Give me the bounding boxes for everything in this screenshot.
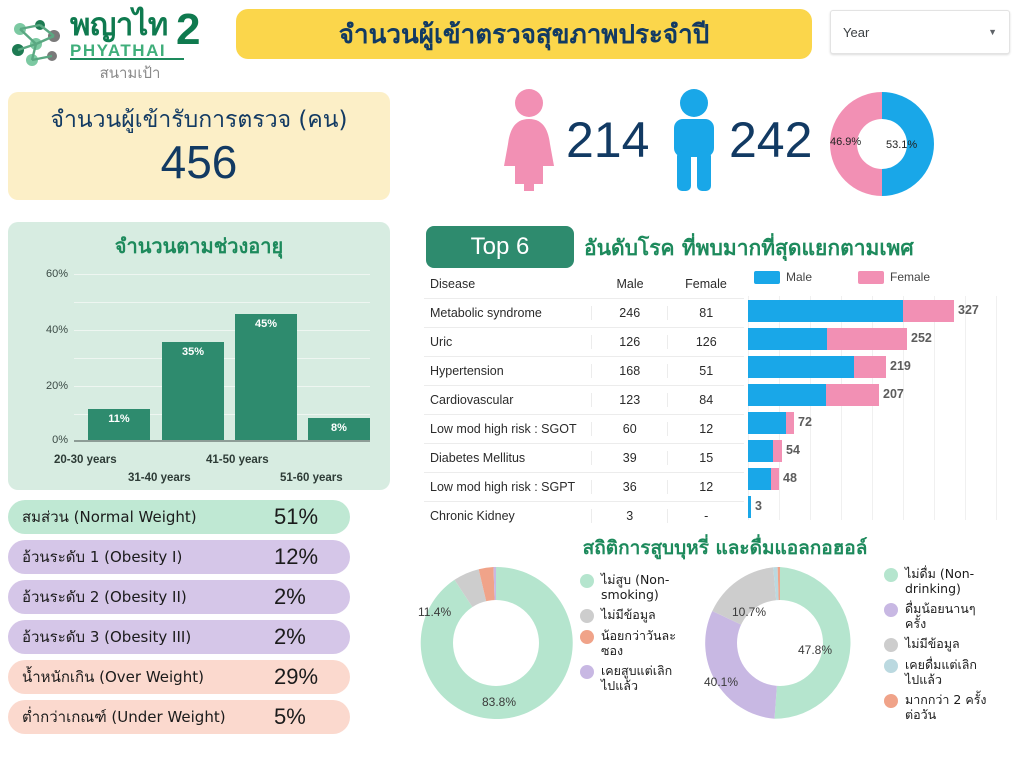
alcohol-legend-item-0[interactable]: ไม่ดื่ม (Non-drinking): [884, 566, 988, 596]
male-value-1: 126: [591, 335, 668, 349]
alcohol-donut-svg: [700, 563, 860, 723]
bmi-value-1: 12%: [274, 544, 336, 570]
bmi-row-obesity-1[interactable]: อ้วนระดับ 1 (Obesity I) 12%: [8, 540, 350, 574]
top6-badge-label: Top 6: [471, 233, 530, 261]
page-title: จำนวนผู้เข้าตรวจสุขภาพประจำปี: [339, 14, 709, 55]
age-xtick-0: 20-30 years: [54, 454, 117, 466]
smoking-legend-label-3: เคยสูบแต่เลิกไปแล้ว: [601, 663, 676, 693]
male-count: 242: [729, 115, 812, 165]
bmi-label-3: อ้วนระดับ 3 (Obesity III): [22, 625, 274, 649]
gender-summary: 214 242: [470, 88, 830, 200]
age-bar-0[interactable]: 11%: [88, 409, 150, 440]
male-value-0: 246: [591, 306, 668, 320]
top6-badge: Top 6: [426, 226, 574, 268]
legend-label-male: Male: [786, 270, 812, 284]
hbar-female-6: [771, 468, 779, 490]
alcohol-legend-item-2[interactable]: ไม่มีข้อมูล: [884, 636, 988, 652]
disease-name-6: Low mod high risk : SGPT: [424, 480, 591, 494]
female-value-3: 84: [667, 393, 744, 407]
hbar-male-2: [748, 356, 854, 378]
male-icon: [665, 88, 723, 192]
smoking-label-nonsmoking: 83.8%: [482, 695, 516, 709]
age-bar-label-1: 35%: [162, 346, 224, 358]
bmi-value-5: 5%: [274, 704, 336, 730]
table-row[interactable]: Cardiovascular 123 84: [424, 385, 744, 414]
hbar-male-5: [748, 440, 773, 462]
alcohol-label-nondrinking: 47.8%: [798, 643, 832, 657]
alcohol-label-nodata: 10.7%: [732, 605, 766, 619]
female-value-4: 12: [667, 422, 744, 436]
age-xtick-3: 51-60 years: [280, 472, 343, 484]
age-ytick-0: 0%: [52, 434, 68, 446]
legend-swatch-female: [858, 271, 884, 284]
logo-molecule-icon: [10, 20, 66, 66]
bmi-label-2: อ้วนระดับ 2 (Obesity II): [22, 585, 274, 609]
gender-ratio-donut: 46.9% 53.1%: [826, 88, 942, 200]
total-patients-card: จำนวนผู้เข้ารับการตรวจ (คน) 456: [8, 92, 390, 200]
female-count: 214: [566, 115, 649, 165]
bmi-row-over-weight[interactable]: น้ำหนักเกิน (Over Weight) 29%: [8, 660, 350, 694]
female-value-2: 51: [667, 364, 744, 378]
bmi-value-4: 29%: [274, 664, 336, 690]
dashboard-root: พญาไท PHYATHAI 2 สนามเป้า จำนวนผู้เข้าตร…: [0, 0, 1024, 763]
age-bar-1[interactable]: 35%: [162, 342, 224, 440]
alcohol-legend-label-0: ไม่ดื่ม (Non-drinking): [905, 566, 988, 596]
alcohol-legend-item-3[interactable]: เคยดื่มแต่เลิกไปแล้ว: [884, 657, 988, 687]
bmi-label-4: น้ำหนักเกิน (Over Weight): [22, 665, 274, 689]
hbar-total-7: 3: [755, 499, 762, 513]
bmi-row-obesity-2[interactable]: อ้วนระดับ 2 (Obesity II) 2%: [8, 580, 350, 614]
female-value-6: 12: [667, 480, 744, 494]
hbar-total-4: 72: [798, 415, 812, 429]
table-row[interactable]: Chronic Kidney 3 -: [424, 501, 744, 530]
legend-item-male[interactable]: Male: [754, 270, 812, 284]
female-value-5: 15: [667, 451, 744, 465]
legend-dot-non-smoking: [580, 574, 594, 588]
legend-item-female[interactable]: Female: [858, 270, 930, 284]
age-xtick-1: 31-40 years: [128, 472, 191, 484]
year-filter-label: Year: [843, 25, 988, 40]
age-chart-title: จำนวนตามช่วงอายุ: [8, 230, 390, 262]
male-value-2: 168: [591, 364, 668, 378]
hbar-male-4: [748, 412, 786, 434]
female-count-group: 214: [498, 88, 649, 192]
hbar-male-3: [748, 384, 826, 406]
bmi-row-obesity-3[interactable]: อ้วนระดับ 3 (Obesity III) 2%: [8, 620, 350, 654]
male-count-group: 242: [665, 88, 812, 192]
hbar-male-0: [748, 300, 903, 322]
smoking-legend-item-0[interactable]: ไม่สูบ (Non-smoking): [580, 572, 676, 602]
bmi-row-under-weight[interactable]: ต่ำกว่าเกณฑ์ (Under Weight) 5%: [8, 700, 350, 734]
age-ytick-2: 40%: [46, 324, 68, 336]
hbar-male-6: [748, 468, 771, 490]
legend-dot-quit-drinking: [884, 659, 898, 673]
female-percent: 46.9%: [830, 136, 861, 148]
male-percent: 53.1%: [886, 139, 917, 151]
bmi-row-normal-weight[interactable]: สมส่วน (Normal Weight) 51%: [8, 500, 350, 534]
age-ytick-3: 60%: [46, 268, 68, 280]
column-header-male: Male: [592, 277, 668, 291]
legend-dot-alcohol-no-data: [884, 638, 898, 652]
disease-name-1: Uric: [424, 335, 591, 349]
legend-dot-less-than-pack: [580, 630, 594, 644]
habits-section-title: สถิติการสูบบุหรี่ และดื่มแอลกอฮอล์: [500, 533, 950, 563]
smoking-legend-label-2: น้อยกว่าวันละซอง: [601, 628, 676, 658]
smoking-legend-item-1[interactable]: ไม่มีข้อมูล: [580, 607, 676, 623]
disease-name-5: Diabetes Mellitus: [424, 451, 591, 465]
hbar-female-2: [854, 356, 886, 378]
age-distribution-panel: จำนวนตามช่วงอายุ 60% 40% 20% 0% 11% 35% …: [8, 222, 390, 490]
age-bar-3[interactable]: 8%: [308, 418, 370, 440]
column-header-disease: Disease: [424, 277, 592, 291]
hbar-total-3: 207: [883, 387, 904, 401]
legend-swatch-male: [754, 271, 780, 284]
bmi-value-2: 2%: [274, 584, 336, 610]
legend-label-female: Female: [890, 270, 930, 284]
table-row[interactable]: Metabolic syndrome 246 81: [424, 298, 744, 327]
disease-name-2: Hypertension: [424, 364, 591, 378]
disease-name-3: Cardiovascular: [424, 393, 591, 407]
hbar-male-7: [748, 496, 751, 518]
hbar-female-5: [773, 440, 782, 462]
hbar-total-5: 54: [786, 443, 800, 457]
alcohol-legend-label-2: ไม่มีข้อมูล: [905, 636, 960, 651]
age-bar-2[interactable]: 45%: [235, 314, 297, 440]
age-xtick-2: 41-50 years: [206, 454, 269, 466]
table-row[interactable]: Low mod high risk : SGPT 36 12: [424, 472, 744, 501]
alcohol-legend-item-4[interactable]: มากกว่า 2 ครั้งต่อวัน: [884, 692, 988, 722]
hbar-female-1: [827, 328, 907, 350]
male-value-3: 123: [591, 393, 668, 407]
disease-name-4: Low mod high risk : SGOT: [424, 422, 591, 436]
age-bar-label-0: 11%: [88, 413, 150, 425]
logo-divider: [70, 58, 184, 60]
smoking-legend: ไม่สูบ (Non-smoking) ไม่มีข้อมูล น้อยกว่…: [580, 572, 676, 698]
alcohol-legend-label-1: ดื่มน้อยนานๆ ครั้ง: [905, 601, 988, 631]
age-chart-plot: 60% 40% 20% 0% 11% 35% 45% 8%: [74, 274, 370, 442]
smoking-legend-label-1: ไม่มีข้อมูล: [601, 607, 656, 622]
logo-english-name: PHYATHAI: [70, 42, 168, 59]
hbar-total-2: 219: [890, 359, 911, 373]
alcohol-legend-label-4: มากกว่า 2 ครั้งต่อวัน: [905, 692, 988, 722]
table-row[interactable]: Low mod high risk : SGOT 60 12: [424, 414, 744, 443]
column-header-female: Female: [668, 277, 744, 291]
total-patients-label: จำนวนผู้เข้ารับการตรวจ (คน): [8, 102, 390, 138]
smoking-legend-label-0: ไม่สูบ (Non-smoking): [601, 572, 676, 602]
hbar-total-0: 327: [958, 303, 979, 317]
logo-branch-number: 2: [176, 8, 200, 52]
smoking-donut-chart: 11.4% 83.8%: [416, 563, 576, 723]
legend-dot-no-data: [580, 609, 594, 623]
bmi-value-0: 51%: [274, 504, 336, 530]
disease-name-0: Metabolic syndrome: [424, 306, 591, 320]
legend-dot-rarely-drink: [884, 603, 898, 617]
alcohol-legend-item-1[interactable]: ดื่มน้อยนานๆ ครั้ง: [884, 601, 988, 631]
age-ytick-1: 20%: [46, 380, 68, 392]
male-value-4: 60: [591, 422, 668, 436]
logo-branch-name: สนามเป้า: [70, 61, 190, 85]
hbar-female-3: [826, 384, 879, 406]
age-bar-label-2: 45%: [235, 318, 297, 330]
bmi-label-5: ต่ำกว่าเกณฑ์ (Under Weight): [22, 705, 274, 729]
female-value-0: 81: [667, 306, 744, 320]
hbar-male-1: [748, 328, 827, 350]
male-value-7: 3: [591, 509, 668, 523]
bmi-label-1: อ้วนระดับ 1 (Obesity I): [22, 545, 274, 569]
female-value-7: -: [667, 509, 744, 523]
disease-stacked-bar-chart: Male Female 327 252 219: [748, 270, 1000, 520]
disease-table: Disease Male Female Metabolic syndrome 2…: [424, 270, 744, 530]
disease-name-7: Chronic Kidney: [424, 509, 591, 523]
hospital-logo: พญาไท PHYATHAI 2 สนามเป้า: [8, 6, 223, 84]
bmi-category-list: สมส่วน (Normal Weight) 51% อ้วนระดับ 1 (…: [8, 500, 350, 740]
alcohol-label-rarely: 40.1%: [704, 675, 738, 689]
bmi-label-0: สมส่วน (Normal Weight): [22, 505, 274, 529]
table-row[interactable]: Hypertension 168 51: [424, 356, 744, 385]
smoking-label-nodata: 11.4%: [418, 605, 451, 619]
legend-dot-quit-smoking: [580, 665, 594, 679]
female-value-1: 126: [667, 335, 744, 349]
dashboard-title-banner: จำนวนผู้เข้าตรวจสุขภาพประจำปี: [236, 9, 812, 59]
total-patients-value: 456: [8, 138, 390, 186]
age-chart-axis: [74, 440, 370, 442]
hbar-female-4: [786, 412, 794, 434]
logo-thai-name: พญาไท: [70, 10, 168, 41]
male-value-6: 36: [591, 480, 668, 494]
top6-title: อันดับโรค ที่พบมากที่สุดแยกตามเพศ: [584, 232, 914, 265]
hbar-total-1: 252: [911, 331, 932, 345]
chevron-down-icon: ▼: [988, 27, 997, 37]
legend-dot-non-drinking: [884, 568, 898, 582]
legend-dot-more-than-twice: [884, 694, 898, 708]
year-filter-dropdown[interactable]: Year ▼: [830, 10, 1010, 54]
table-header-row: Disease Male Female: [424, 270, 744, 298]
hbar-total-6: 48: [783, 471, 797, 485]
alcohol-legend-label-3: เคยดื่มแต่เลิกไปแล้ว: [905, 657, 988, 687]
age-bar-label-3: 8%: [308, 422, 370, 434]
table-row[interactable]: Uric 126 126: [424, 327, 744, 356]
alcohol-donut-chart: 10.7% 47.8% 40.1%: [700, 563, 860, 723]
bmi-value-3: 2%: [274, 624, 336, 650]
smoking-legend-item-3[interactable]: เคยสูบแต่เลิกไปแล้ว: [580, 663, 676, 693]
hbar-female-0: [903, 300, 954, 322]
female-icon: [498, 88, 560, 192]
table-row[interactable]: Diabetes Mellitus 39 15: [424, 443, 744, 472]
alcohol-legend: ไม่ดื่ม (Non-drinking) ดื่มน้อยนานๆ ครั้…: [884, 566, 988, 727]
logo-wordmark: พญาไท PHYATHAI: [70, 10, 168, 59]
smoking-legend-item-2[interactable]: น้อยกว่าวันละซอง: [580, 628, 676, 658]
male-value-5: 39: [591, 451, 668, 465]
